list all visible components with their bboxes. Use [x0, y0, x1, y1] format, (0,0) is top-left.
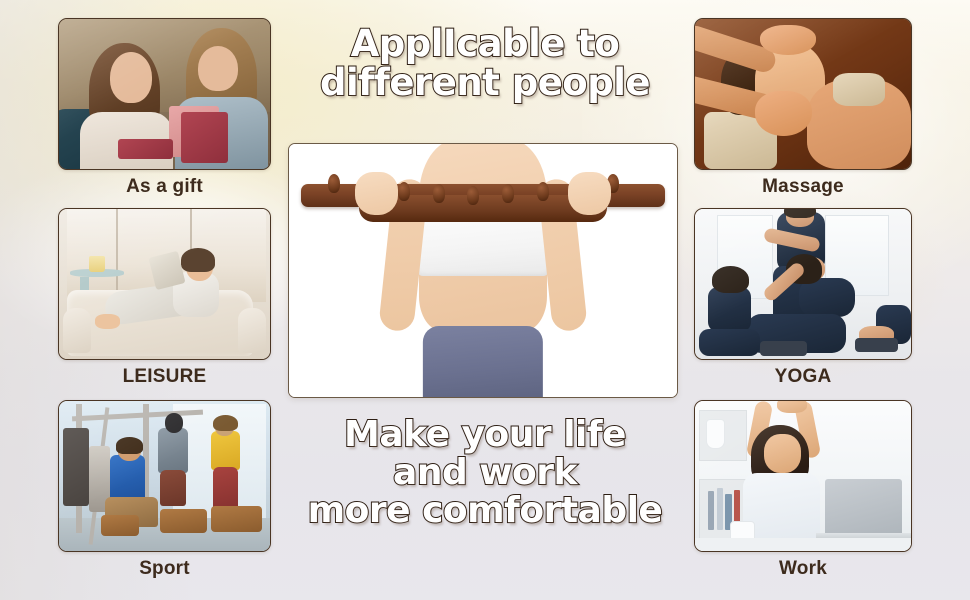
photo-as-a-gift	[59, 19, 270, 169]
yoga-seated-woman-torso	[708, 287, 751, 332]
yoga-seated-woman-legs	[699, 329, 759, 356]
yoga-mat-block	[760, 341, 808, 356]
product-knob-5	[467, 186, 479, 205]
product-hero-card	[288, 143, 678, 398]
work-woman-face	[764, 434, 801, 473]
product-knob-1	[328, 174, 340, 193]
work-laptop-screen	[825, 479, 903, 536]
photo-yoga	[695, 209, 911, 359]
photo-panel-yoga	[694, 208, 912, 360]
leisure-window-mullion-1	[116, 209, 118, 302]
work-woman-hands	[777, 401, 807, 413]
leisure-sofa-arm-left	[63, 308, 90, 353]
gift-woman-left-face	[110, 52, 152, 103]
leisure-woman-feet	[95, 314, 120, 329]
gift-woman-right-face	[198, 46, 238, 91]
headline-bottom: Make your life and work more comfortable	[230, 416, 740, 530]
gift-box-base	[181, 112, 227, 163]
leisure-sofa-arm-right	[238, 308, 265, 353]
massage-towel-shoulder	[833, 73, 885, 106]
product-model-leggings	[423, 326, 543, 397]
yoga-mat-block-2	[855, 338, 898, 352]
sport-person-blue-hair	[116, 437, 143, 454]
product-model-hand-left	[355, 172, 398, 215]
caption-work: Work	[694, 558, 912, 580]
sport-bench-3	[101, 515, 139, 536]
sport-person-grey-shorts	[160, 470, 185, 506]
product-knob-7	[537, 182, 549, 201]
work-desk	[695, 538, 911, 552]
photo-panel-leisure	[58, 208, 271, 360]
yoga-scene	[695, 209, 911, 359]
headline-top-line-1: ApplIcable to	[240, 24, 730, 63]
gift-box-ribbon	[118, 139, 173, 159]
leisure-woman-hair	[181, 248, 215, 272]
yoga-seated-woman-hair	[712, 266, 749, 293]
caption-leisure: LEISURE	[58, 366, 271, 388]
product-knob-3	[398, 182, 410, 201]
sport-person-grey-head	[165, 413, 184, 433]
caption-sport: Sport	[58, 558, 271, 580]
caption-as-a-gift: As a gift	[58, 176, 271, 198]
sport-bench-1	[160, 509, 206, 533]
photo-leisure	[59, 209, 270, 359]
yoga-instructor-hair	[784, 209, 816, 218]
headline-bottom-line-1: Make your life	[230, 416, 740, 454]
sport-weight-stack-1	[63, 428, 88, 506]
caption-yoga: YOGA	[694, 366, 912, 388]
product-knob-4	[433, 184, 445, 203]
sport-person-grey-torso	[158, 428, 188, 473]
massage-therapist-hand-upper	[760, 25, 816, 55]
headline-bottom-line-2: and work	[230, 454, 740, 492]
headline-top: ApplIcable to different people	[240, 24, 730, 102]
leisure-scene	[59, 209, 270, 359]
headline-top-line-2: different people	[240, 63, 730, 102]
massage-therapist-hand-lower	[755, 91, 811, 136]
gift-scene	[59, 19, 270, 169]
headline-bottom-line-3: more comfortable	[230, 492, 740, 530]
caption-massage: Massage	[694, 176, 912, 198]
product-model-hand-right	[568, 172, 611, 215]
leisure-drink-glass	[89, 256, 106, 273]
